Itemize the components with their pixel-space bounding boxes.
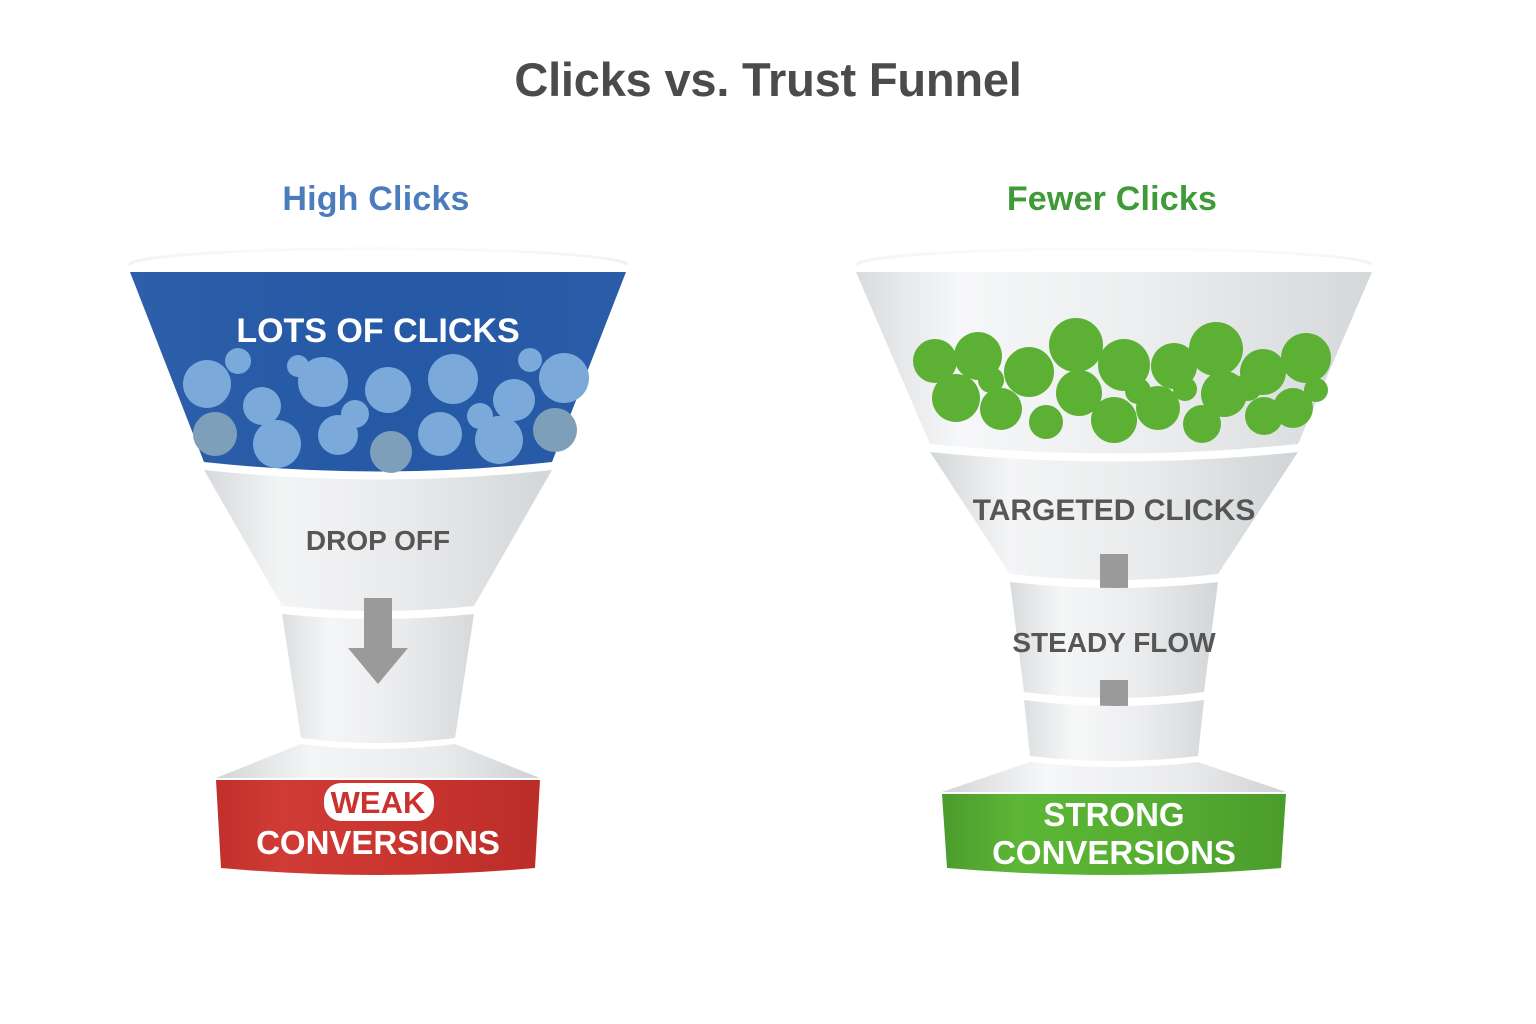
funnel-fewer-clicks: TARGETED CLICKS STEADY FLOW STRONG CONVE… — [836, 248, 1396, 898]
band-label-lots-of-clicks: LOTS OF CLICKS — [236, 312, 519, 350]
funnel-heading-high-clicks: High Clicks — [116, 180, 636, 219]
base-label-line1-strong: STRONG — [1043, 796, 1184, 833]
base-label-line2-conversions: CONVERSIONS — [992, 834, 1236, 871]
band-label-targeted-clicks: TARGETED CLICKS — [973, 494, 1256, 527]
band-label-steady-flow: STEADY FLOW — [1012, 627, 1216, 658]
band-label-drop-off: DROP OFF — [306, 525, 450, 556]
funnel-heading-fewer-clicks: Fewer Clicks — [852, 180, 1372, 219]
funnel-base-plate — [942, 762, 1286, 792]
funnel-high-clicks: LOTS OF CLICKS DROP OFF WEAK CONVERSIONS — [110, 248, 650, 898]
funnel-base-plate — [216, 744, 540, 778]
infographic-canvas: Clicks vs. Trust Funnel High Clicks Fewe… — [0, 0, 1536, 1024]
base-label-line2-conversions: CONVERSIONS — [256, 824, 500, 861]
base-label-line1-weak: WEAK — [331, 785, 426, 820]
page-title: Clicks vs. Trust Funnel — [0, 52, 1536, 107]
funnel-neck — [1024, 700, 1204, 761]
